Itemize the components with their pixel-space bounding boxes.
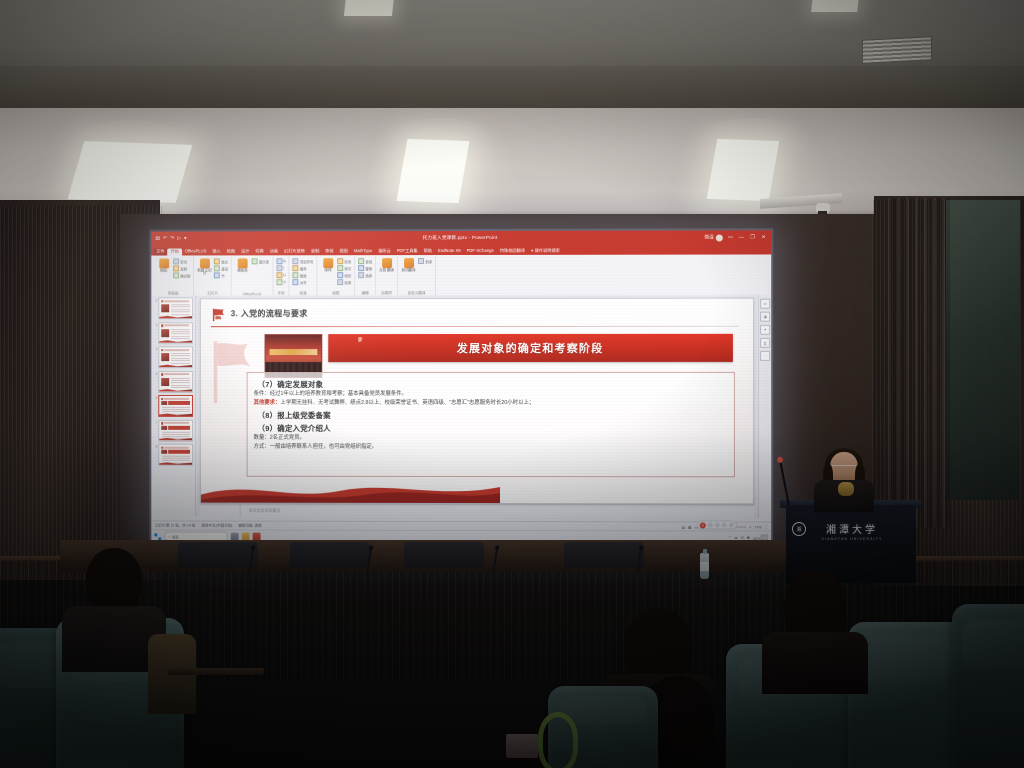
ribbon-item-1-2[interactable]: 节 [214,272,228,278]
ribbon-item-icon [293,258,299,264]
thumb-text-line [171,333,190,334]
slide-thumbnail-8[interactable]: 8 [153,444,193,466]
ribbon-item-icon [173,272,179,278]
ime-mode-icon[interactable] [708,522,713,527]
ribbon-tab-13[interactable]: 福昕云 [375,248,394,255]
ribbon-item-label: 形状 [344,259,351,264]
audience-seat [952,604,1024,768]
thumb-text-line [162,458,190,459]
slide-list-line-0-0: 条件：经过1年以上的培养教育和考察；基本具备党员发展条件。 [254,391,728,399]
person-body [762,632,868,694]
ribbon-item-label: S [283,280,285,284]
slide-thumbnail-preview[interactable] [158,322,193,344]
thumb-image [161,450,167,454]
window [946,200,1020,500]
ribbon-tab-label: 切换 [255,249,263,254]
thumb-title-bar [164,349,189,351]
water-bottle [700,553,709,579]
slide-header: 3. 入党的流程与要求 [231,308,308,319]
thumb-wave [159,364,192,367]
thumb-title-bar [164,397,189,399]
ribbon-group-7[interactable]: 文档 翻译加载项 [376,256,398,296]
thumb-wave [159,388,192,391]
ribbon-tab-label: 审阅 [325,249,333,254]
ribbon-item-icon [337,258,343,264]
ribbon-item-0-1[interactable]: 复制 [173,265,190,271]
podium-name-cn: 湘潭大学 [826,521,878,536]
slide-line-text: 一般由培养联系人担任，也可由党组织指定。 [270,444,377,450]
thumb-text-line [162,431,190,432]
thumb-text-line [171,387,190,388]
slide-list-heading-2: （9）确定入党介绍人 [258,423,728,434]
slide-line-label: 条件： [254,391,270,397]
ime-punct-icon[interactable] [715,522,720,527]
ribbon-tab-3[interactable]: 插入 [209,249,223,256]
rail-translate-icon[interactable]: 文 [760,338,770,348]
ribbon-item-5-0[interactable]: 形状 [337,258,351,264]
slide-thumbnail-preview[interactable] [158,419,193,441]
slide-thumbnail-5[interactable]: 5 [153,371,193,393]
document-title: 托力班入党课教.pptx - PowerPoint [151,234,771,241]
thumb-text-line [162,456,190,457]
head-table-chair [178,542,258,568]
thumb-title-bar [164,446,189,448]
ribbon-item-4-1[interactable]: 编号 [293,265,314,271]
ribbon-item-5-3[interactable]: 轮廓 [337,279,351,285]
ribbon-item-3-2[interactable]: U [276,272,286,278]
thumb-emblem-icon [161,373,163,375]
ribbon-item-icon [276,272,282,278]
rail-format-icon[interactable]: ✦ [760,325,770,335]
slide-line-label: 方式： [254,444,270,450]
minimize-button[interactable]: — [738,235,745,240]
ribbon-tab-label: 福昕云 [378,248,391,253]
thumb-title-bar [164,373,189,375]
ribbon-item-icon [293,272,299,278]
thumb-text-line [171,307,190,308]
ribbon-big-button-label: 新建 幻灯片 [197,269,212,276]
slide-thumbnail-2[interactable]: 2 [153,297,193,319]
thumb-image [161,304,169,312]
ribbon-group-1[interactable]: 新建 幻灯片版式重设节幻灯片 [194,256,232,296]
ribbon-big-button-1[interactable]: 新建 幻灯片 [197,258,212,275]
titlebar: ▤ ↶ ↷ ▷ ▾ 托力班入党课教.pptx - PowerPoint 微泽 ▭… [151,230,771,245]
ribbon-item-label: 复制 [180,266,187,271]
ribbon-item-icon [337,265,343,271]
slide-thumbnail-preview[interactable] [158,346,193,368]
thumb-emblem-icon [161,300,163,302]
ribbon-tab-5[interactable]: 设计 [238,249,252,256]
account-label[interactable]: 微泽 [705,234,723,241]
slide-wave-decoration [201,477,500,503]
ribbon-group-8[interactable]: 划词翻译划译自定义翻译 [398,256,436,296]
thumb-wave [159,340,192,343]
slide-list-line-0-1: 其他要求：上学期无挂科、无考试舞弊、绩点2.8以上、校级荣誉证书、英语四级、“志… [254,400,728,408]
ribbon-item-label: 填充 [344,273,351,278]
speaker-presenter [812,452,876,510]
ribbon-item-3-1[interactable]: I [276,265,286,271]
ribbon-item-icon [214,265,220,271]
ribbon-item-icon [214,272,220,278]
ribbon-tab-0[interactable]: 文件 [153,249,167,256]
slide-thumbnail-number: 2 [153,297,157,319]
thumb-text-line [171,329,190,330]
thumb-text-line [171,363,190,364]
slide-thumbnail-6[interactable]: 6 [153,395,193,417]
ribbon-item-icon [293,265,299,271]
ribbon-tab-18[interactable]: 特殊校园翻译 [497,248,528,255]
ribbon-tab-1[interactable]: 开始 [168,249,182,256]
ribbon-item-label: 项目符号 [300,259,314,264]
security-camera-icon [816,203,830,213]
ribbon-tab-label: OfficePLUS [185,249,207,254]
right-task-rail[interactable]: ▭ ◪ ✦ 文 ⋯ [758,295,771,518]
lecture-hall-photo: ▤ ↶ ↷ ▷ ▾ 托力班入党课教.pptx - PowerPoint 微泽 ▭… [0,0,1024,768]
ribbon-item-icon [358,265,364,271]
slide-thumbnail-3[interactable]: 3 [153,322,193,344]
slide-thumbnail-number: 3 [153,322,157,344]
ribbon-item-icon [358,258,364,264]
language-indicator[interactable]: 简体中文(中国大陆) [201,524,232,529]
window-controls[interactable]: 微泽 ▭ — ❐ ✕ [705,234,768,241]
seat-writing-tablet [168,668,264,675]
speaker-glasses-icon [832,465,856,472]
ribbon-item-4-2[interactable]: 缩进 [293,272,314,278]
ribbon-item-label: 缩进 [300,273,307,278]
thumb-text-line [162,436,190,437]
ribbon-item-label: 版式 [221,259,228,264]
ribbon-big-button-5[interactable]: 排列 [320,258,335,272]
current-slide[interactable]: 3. 入党的流程与要求 发展对象的确定和考察阶段 [200,298,754,505]
workspace: 2345678 3. 入党的流程与要求 [151,295,771,518]
ribbon-button-icon [404,258,414,268]
ribbon-tab-11[interactable]: 视图 [337,248,351,255]
powerpoint-window: ▤ ↶ ↷ ▷ ▾ 托力班入党课教.pptx - PowerPoint 微泽 ▭… [151,230,771,543]
ribbon-item-label: 图示库 [259,259,269,264]
ribbon-tab-label: 设计 [241,249,249,254]
slide-canvas-area: 3. 入党的流程与要求 发展对象的确定和考察阶段 [196,295,758,518]
ribbon-item-label: B [283,259,285,263]
curtain [888,198,950,528]
rail-more-icon[interactable]: ⋯ [760,351,770,361]
thumb-image [161,353,169,361]
ribbon-tab-7[interactable]: 动画 [267,249,281,256]
thumb-image [161,425,167,429]
zoom-level: 77% [754,525,761,529]
ribbon-tab-label: 特殊校园翻译 [500,248,525,253]
close-button[interactable]: ✕ [760,235,767,240]
ribbon-item-3-0[interactable]: B [276,258,286,264]
ribbon-item-label: U [283,273,285,277]
podium-name-en: XIANGTAN UNIVERSITY [822,537,883,541]
ceiling-light [397,139,470,203]
ceiling-soffit [0,66,1024,112]
ribbon-tab-2[interactable]: OfficePLUS [182,249,210,256]
ribbon-big-button-label: 文档 翻译 [379,269,394,273]
thumb-title-bar [164,324,189,326]
ribbon-tab-label: MathType [354,248,372,253]
ribbon-item-1-0[interactable]: 版式 [214,258,228,264]
slide-counter: 幻灯片第 11 张，共 14 张 [155,523,195,528]
ribbon-group-5[interactable]: 排列形状样式填充轮廓绘图 [317,256,355,296]
slide-thumbnail-7[interactable]: 7 [153,419,193,441]
slide-thumbnail-preview[interactable] [158,371,193,393]
ribbon-item-label: 样式 [344,266,351,271]
ribbon-item-icon [293,279,299,285]
ribbon-button-icon [382,258,392,268]
party-emblem-icon [211,307,227,323]
ribbon-big-button-7[interactable]: 文档 翻译 [379,258,394,272]
thumb-text-line [171,304,190,305]
ribbon-item-4-3[interactable]: 对齐 [293,279,314,285]
ribbon-item-6-2[interactable]: 选择 [358,272,372,278]
ribbon-item-icon [276,265,282,271]
notes-gutter [200,505,241,517]
head-table-chair [290,542,370,568]
ribbon-item-6-0[interactable]: 查找 [358,258,372,264]
thumb-emblem-icon [161,397,163,399]
thumb-text-line [162,411,190,412]
ribbon-tab-12[interactable]: MathType [351,248,375,255]
thumb-text-line [162,407,190,408]
paper-sheet [506,734,538,758]
ribbon-item-label: 轮廓 [344,280,351,285]
ribbon-item-icon [173,258,179,264]
ribbon-tab-16[interactable]: EndNote X9 [435,248,464,255]
slide-line-text: 上学期无挂科、无考试舞弊、绩点2.8以上、校级荣誉证书、英语四级、“志愿汇”志愿… [280,400,534,406]
thumb-emblem-icon [161,446,163,448]
ime-keyboard-icon[interactable] [722,522,727,527]
ribbon-tab-label: 录制 [311,249,319,254]
slide-thumbnail-number: 8 [153,444,157,466]
notes-pane[interactable]: 单击此处添加备注 [200,504,754,518]
ceiling-light [68,141,193,203]
ribbon-big-button-label: 粘贴 [160,269,167,272]
ribbon-item-icon [276,258,282,264]
thumb-text-line [171,331,190,332]
thumb-text-line [162,460,190,461]
ribbon-item-1-1[interactable]: 重设 [214,265,228,271]
accessibility-indicator[interactable]: 辅助功能: 调查 [238,524,261,529]
sogou-icon[interactable]: S [700,522,706,528]
ribbon-item-icon [173,265,179,271]
ribbon-tab-label: 操作说明搜索 [535,249,560,253]
ribbon-tab-label: 视图 [339,249,347,254]
chevron-up-icon[interactable]: ⌃ [729,536,732,540]
slide-thumbnail-number: 7 [153,419,157,441]
ribbon-item-4-0[interactable]: 项目符号 [293,258,314,264]
thumb-image [161,401,167,405]
thumb-text-line [171,356,190,357]
ribbon-big-button-label: 排列 [324,269,331,273]
ribbon-tab-9[interactable]: 录制 [308,249,322,256]
thumb-text-line [171,380,190,381]
ribbon-group-3[interactable]: BIUS字体 [273,256,290,296]
ribbon-group-0[interactable]: 粘贴剪切复制格式刷剪贴板 [153,256,194,296]
ribbon-tab-label: 插入 [212,249,220,254]
ceiling-light [811,0,859,12]
ribbon-button-icon [159,258,169,268]
lightbulb-icon: ♦ [531,249,533,253]
zoom-in-button[interactable]: + [749,525,751,529]
start-button-icon[interactable] [154,533,161,540]
thumb-emblem-icon [161,324,163,326]
slide-thumbnail-preview[interactable] [158,444,193,466]
ribbon-big-button-0[interactable]: 粘贴 [156,258,171,272]
ribbon-item-label: 编号 [300,266,307,271]
ribbon[interactable]: 粘贴剪切复制格式刷剪贴板新建 幻灯片版式重设节幻灯片模板库图示库OfficePL… [151,254,771,298]
volume-icon[interactable]: ◉ [747,536,750,540]
slide-thumbnail-panel[interactable]: 2345678 [151,295,196,516]
slide-line-label: 数量： [254,435,270,441]
photo-banner [270,349,318,355]
ribbon-item-icon [276,279,282,285]
rail-design-icon[interactable]: ◪ [760,312,770,322]
slide-thumbnail-number: 6 [153,395,157,417]
thumb-text-line [171,353,190,354]
slide-line-text: 2名正式党员。 [270,435,305,441]
ribbon-item-label: I [283,266,284,270]
ribbon-tab-4[interactable]: 绘图 [224,249,238,256]
ribbon-group-2[interactable]: 模板库图示库OfficePLUS [232,256,273,296]
ribbon-item-5-2[interactable]: 填充 [337,272,351,278]
cloud-icon[interactable]: ☁ [734,536,737,540]
ribbon-tab-10[interactable]: 审阅 [322,249,336,256]
ribbon-button-icon [323,258,333,268]
ribbon-big-button-8[interactable]: 划词翻译 [401,258,416,272]
podium-nameplate: 湘潭大学 XIANGTAN UNIVERSITY [804,521,900,541]
fit-to-window-icon[interactable]: ⛶ [765,525,768,529]
thumb-text-line [171,314,190,315]
slide-thumbnail-preview[interactable] [158,297,193,319]
audience-person [62,548,166,668]
thumb-image [161,329,169,337]
ribbon-item-icon [358,272,364,278]
ribbon-item-label: 对齐 [300,280,307,285]
ribbon-tab-label: 文件 [156,249,164,254]
thumb-red-banner [168,425,190,429]
speaker-scarf [838,482,854,496]
thumb-text-line [171,378,190,379]
ceiling-light [707,139,780,201]
lanyard-accessory [538,712,578,768]
notes-placeholder[interactable]: 单击此处添加备注 [241,508,281,514]
thumb-text-line [162,409,190,410]
ribbon-tab-label: PDF-XChange [467,248,494,253]
ceiling-light [344,0,394,16]
ribbon-item-8-0[interactable]: 划译 [418,258,432,264]
ribbon-tab-label: 绘图 [227,249,235,254]
ribbon-item-label: 选择 [365,273,372,278]
ribbon-big-button-2[interactable]: 模板库 [235,258,250,272]
ribbon-group-6[interactable]: 查找替换选择编辑 [355,256,376,296]
ribbon-item-6-1[interactable]: 替换 [358,265,372,271]
search-icon: ⌕ [168,534,170,538]
slide-banner-text: 发展对象的确定和考察阶段 [457,340,604,356]
ribbon-item-label: 节 [221,273,224,278]
thumb-text-line [171,358,190,359]
ribbon-display-options-icon[interactable]: ▭ [727,235,734,240]
ribbon-tab-label: EndNote X9 [438,248,461,253]
ribbon-item-icon [337,272,343,278]
ribbon-tab-label: 开始 [171,249,179,254]
projection-screen: ▤ ↶ ↷ ▷ ▾ 托力班入党课教.pptx - PowerPoint 微泽 ▭… [151,230,771,543]
ribbon-item-label: 查找 [365,259,372,264]
thumb-title-bar [164,300,189,302]
ribbon-item-2-0[interactable]: 图示库 [252,258,269,264]
slide-thumbnail-number: 5 [153,371,157,393]
head-table-chair [404,542,484,568]
thumb-text-line [171,385,190,386]
ribbon-item-5-1[interactable]: 样式 [337,265,351,271]
ribbon-item-3-3[interactable]: S [276,279,286,285]
avatar[interactable] [716,234,723,241]
thumb-text-line [171,382,190,383]
ribbon-big-button-label: 模板库 [237,269,247,273]
ribbon-tab-15[interactable]: 帮助 [421,248,435,255]
ribbon-group-4[interactable]: 项目符号编号缩进对齐段落 [290,256,318,296]
quote-mark-icon [358,337,362,342]
rail-comments-icon[interactable]: ▭ [760,299,770,309]
thumb-emblem-icon [161,349,163,351]
view-normal-icon[interactable]: ▤ [682,525,685,529]
audience-person [762,570,868,682]
slide-banner: 发展对象的确定和考察阶段 [328,334,733,362]
ribbon-tab-19[interactable]: ♦操作说明搜索 [528,248,563,255]
ribbon-button-icon [200,258,210,268]
ribbon-item-icon [337,279,343,285]
bottle-label [700,562,709,571]
ribbon-tab-14[interactable]: PDF工具集 [394,248,421,255]
restore-button[interactable]: ❐ [749,235,756,240]
search-placeholder: 搜索 [172,534,179,539]
thumb-red-banner [168,401,190,405]
ribbon-item-label: 格式刷 [180,273,190,278]
ribbon-item-icon [252,258,258,264]
ribbon-item-0-2[interactable]: 格式刷 [173,272,190,278]
person-head [86,548,142,614]
ribbon-item-0-0[interactable]: 剪切 [173,258,190,264]
slide-thumbnail-4[interactable]: 4 [153,346,193,368]
thumb-text-line [171,309,190,310]
thumb-text-line [162,434,190,435]
thumb-wave [159,315,192,318]
ime-toolbox-icon[interactable] [729,522,734,527]
ribbon-tab-label: 动画 [270,249,278,254]
slide-list-line-2-0: 数量：2名正式党员。 [254,435,728,443]
network-icon[interactable]: ◰ [741,536,744,540]
thumb-text-line [171,336,190,337]
ribbon-tab-17[interactable]: PDF-XChange [464,248,497,255]
ribbon-button-icon [238,258,248,268]
ribbon-tab-label: 幻灯片放映 [284,249,305,254]
head-table-chair [564,542,644,568]
ribbon-item-label: 重设 [221,266,228,271]
ribbon-tab-8[interactable]: 幻灯片放映 [281,249,308,256]
ribbon-tab-label: 帮助 [424,248,432,253]
ribbon-tab-label: PDF工具集 [397,248,418,253]
ribbon-tab-6[interactable]: 切换 [252,249,266,256]
thumb-text-line [171,360,190,361]
slide-line-label: 其他要求： [254,400,281,406]
slide-list-line-2-1: 方式：一般由培养联系人担任，也可由党组织指定。 [254,444,728,452]
view-sorter-icon[interactable]: ▦ [688,525,691,529]
ribbon-big-button-label: 划词翻译 [402,269,416,273]
thumb-text-line [171,311,190,312]
slide-list-heading-0: （7）确定发展对象 [258,379,728,390]
ime-toolbar[interactable]: S [697,520,737,529]
slide-thumbnail-preview[interactable] [158,395,193,417]
